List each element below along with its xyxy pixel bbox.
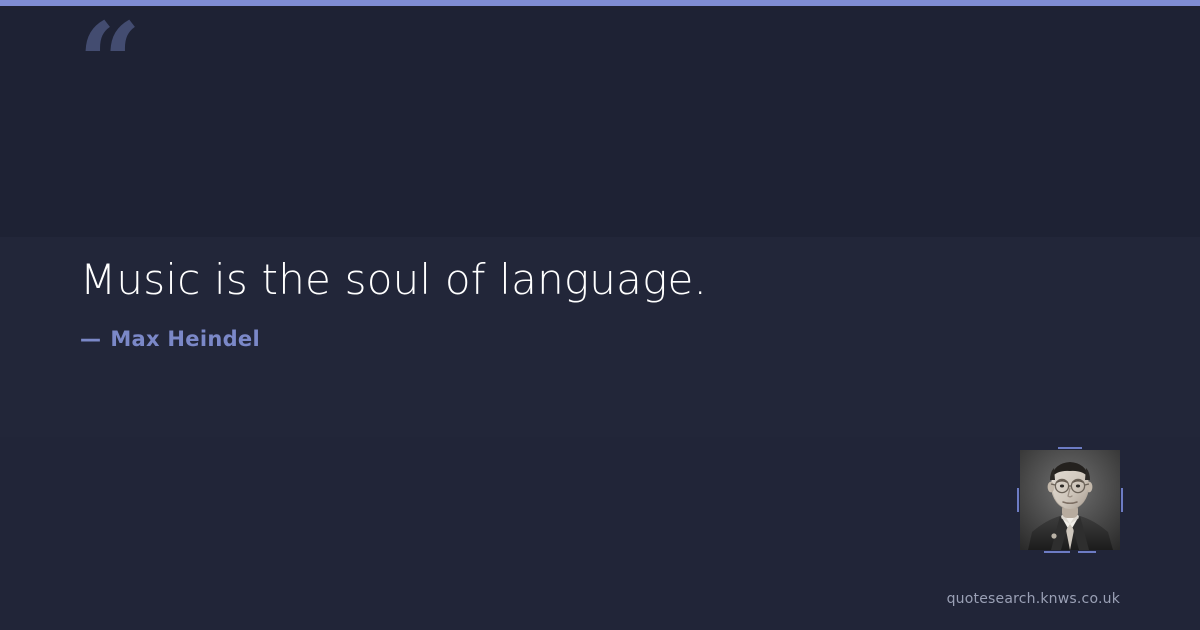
top-accent-bar — [0, 0, 1200, 6]
portrait-focus-tick-bottom-right — [1078, 551, 1096, 553]
author-portrait[interactable] — [1020, 450, 1120, 550]
open-quote-icon: “ — [78, 8, 139, 118]
source-url[interactable]: quotesearch.knws.co.uk — [947, 591, 1120, 607]
portrait-focus-tick-bottom-left — [1044, 551, 1070, 553]
portrait-focus-tick-right — [1121, 488, 1123, 512]
portrait-focus-tick-left — [1017, 488, 1019, 512]
attribution-dash: — — [80, 327, 101, 351]
quote-text: Music is the soul of language. — [80, 255, 1080, 305]
author-name: Max Heindel — [110, 327, 260, 351]
author-portrait-container[interactable] — [1020, 450, 1120, 550]
background-band-top — [0, 6, 1200, 237]
quote-card: “ Music is the soul of language. — Max H… — [0, 0, 1200, 630]
portrait-focus-tick-top — [1058, 447, 1082, 449]
quote-attribution: — Max Heindel — [80, 327, 1080, 351]
quote-block: Music is the soul of language. — Max Hei… — [80, 255, 1080, 351]
